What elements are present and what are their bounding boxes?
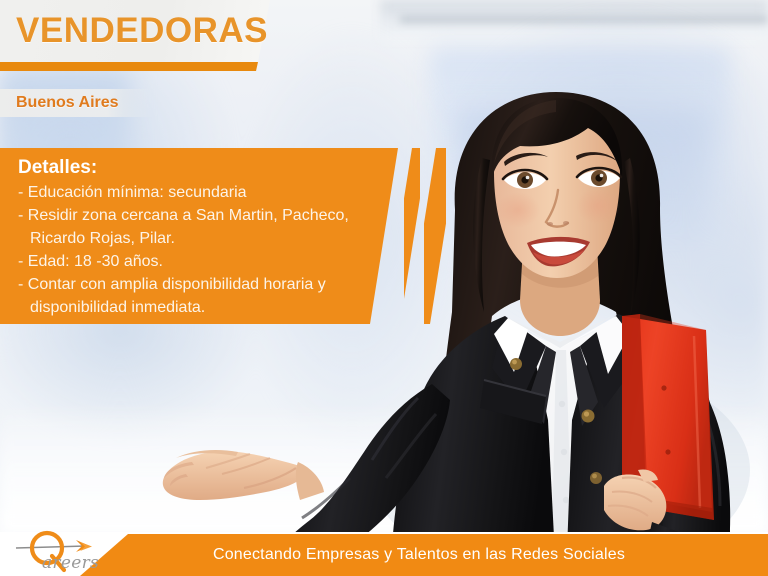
details-content: Detalles: - Educación mínima: secundaria… (18, 155, 368, 319)
background-floor (0, 404, 768, 534)
page-title: VENDEDORAS (16, 9, 268, 53)
details-line: - Edad: 18 -30 años. (18, 250, 368, 273)
title-underline-bar (0, 62, 258, 71)
logo-wordmark: areers (42, 553, 99, 573)
details-heading: Detalles: (18, 155, 368, 180)
details-line: - Educación mínima: secundaria (18, 181, 368, 204)
job-posting-poster: VENDEDORAS Buenos Aires Detalles: - Educ… (0, 0, 768, 576)
location-label: Buenos Aires (16, 93, 119, 113)
details-line: disponibilidad inmediata. (18, 296, 368, 319)
details-list: - Educación mínima: secundaria- Residir … (18, 181, 368, 319)
details-line: Ricardo Rojas, Pilar. (18, 227, 368, 250)
details-line: - Contar con amplia disponibilidad horar… (18, 273, 368, 296)
details-line: - Residir zona cercana a San Martin, Pac… (18, 204, 368, 227)
